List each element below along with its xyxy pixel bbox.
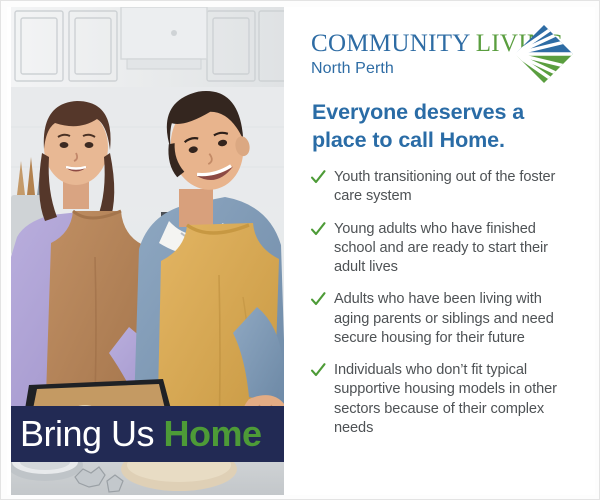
eligibility-list: Youth transitioning out of the foster ca… (308, 168, 577, 438)
check-icon (310, 362, 326, 378)
banner-text-white: Bring Us (20, 413, 164, 454)
check-icon (310, 291, 326, 307)
bring-us-home-banner: Bring Us Home (11, 406, 284, 462)
check-icon (310, 221, 326, 237)
logo[interactable]: COMMUNITY LIVING North Perth (308, 23, 577, 89)
banner-text-green: Home (164, 413, 262, 454)
page-title: Everyone deserves a place to call Home. (312, 99, 577, 154)
list-item-label: Adults who have been living with aging p… (334, 291, 554, 346)
logo-word-community: COMMUNITY (311, 30, 471, 57)
content-panel: COMMUNITY LIVING North Perth (292, 7, 595, 495)
diamond-rays-logo-icon (513, 23, 575, 85)
list-item: Individuals who don’t fit typical suppor… (308, 361, 577, 438)
list-item: Adults who have been living with aging p… (308, 290, 577, 348)
check-icon (310, 169, 326, 185)
list-item-label: Youth transitioning out of the foster ca… (334, 169, 555, 204)
list-item-label: Young adults who have finished school an… (334, 221, 548, 276)
list-item: Young adults who have finished school an… (308, 220, 577, 278)
card-inner: Bring Us Home COMMUNITY LIVING North Per… (7, 7, 595, 495)
promo-card: Bring Us Home COMMUNITY LIVING North Per… (0, 0, 600, 500)
list-item: Youth transitioning out of the foster ca… (308, 168, 577, 207)
banner-text: Bring Us Home (20, 416, 262, 452)
list-item-label: Individuals who don’t fit typical suppor… (334, 362, 557, 436)
